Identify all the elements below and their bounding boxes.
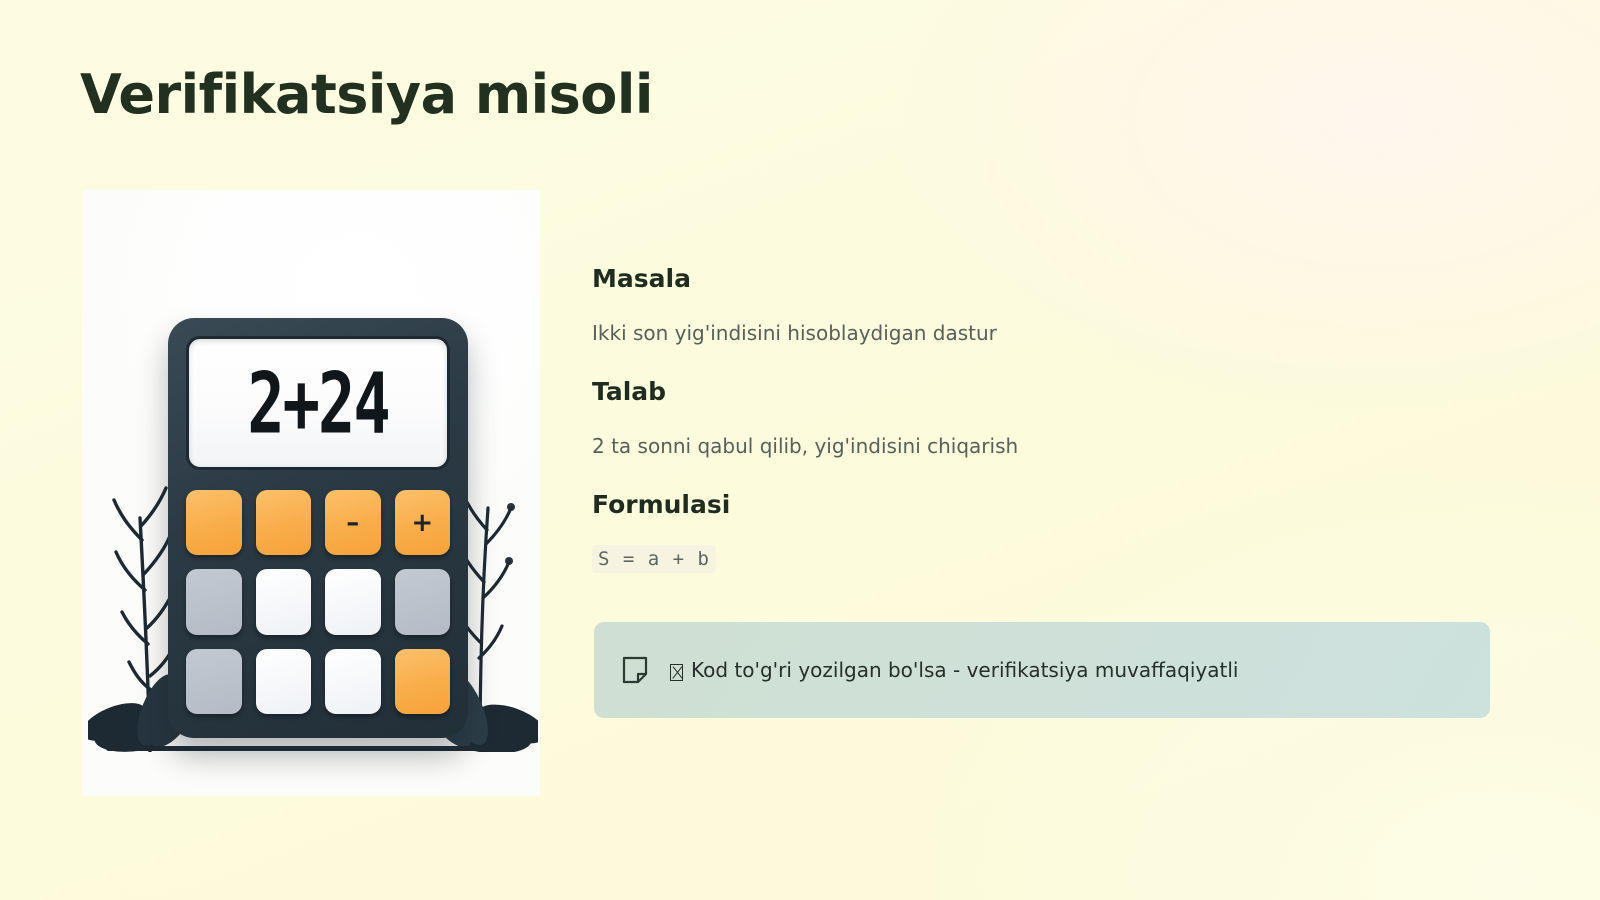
section-body-talab: 2 ta sonni qabul qilib, yig'indisini chi…: [592, 432, 1492, 460]
calculator-key[interactable]: [395, 569, 451, 634]
section-heading-formulasi: Formulasi: [592, 490, 1492, 519]
slide-root: Verifikatsiya misoli: [0, 0, 1600, 900]
calculator-illustration-card: 2+24 – +: [82, 190, 540, 796]
ground-line: [106, 746, 518, 751]
calculator-key[interactable]: [256, 490, 312, 555]
calculator-key[interactable]: [256, 649, 312, 714]
calculator-screen-value: 2+24: [247, 354, 388, 453]
callout-text: Kod to'g'ri yozilgan bo'lsa - verifikats…: [670, 658, 1238, 682]
calculator-keypad: – +: [186, 490, 450, 714]
calculator-screen: 2+24: [186, 336, 450, 470]
section-body-masala: Ikki son yig'indisini hisoblaydigan dast…: [592, 319, 1492, 347]
callout-box: Kod to'g'ri yozilgan bo'lsa - verifikats…: [594, 622, 1490, 718]
page-title: Verifikatsiya misoli: [80, 64, 653, 126]
calculator-key-plus[interactable]: +: [395, 490, 451, 555]
calculator-key[interactable]: [325, 569, 381, 634]
calculator-key[interactable]: [186, 569, 242, 634]
calculator-key[interactable]: [256, 569, 312, 634]
calculator-body: 2+24 – +: [168, 318, 468, 738]
missing-glyph-icon: [670, 664, 683, 681]
section-heading-masala: Masala: [592, 264, 1492, 293]
section-heading-talab: Talab: [592, 377, 1492, 406]
content-column: Masala Ikki son yig'indisini hisoblaydig…: [592, 264, 1492, 609]
callout-message: Kod to'g'ri yozilgan bo'lsa - verifikats…: [691, 658, 1238, 682]
calculator-key-equals[interactable]: [395, 649, 451, 714]
calculator-key-minus[interactable]: –: [325, 490, 381, 555]
illustration-canvas: 2+24 – +: [82, 190, 540, 796]
sticky-note-icon: [622, 656, 648, 684]
calculator-key[interactable]: [186, 649, 242, 714]
calculator-key[interactable]: [186, 490, 242, 555]
formula-code: S = a + b: [592, 545, 716, 573]
calculator-key[interactable]: [325, 649, 381, 714]
